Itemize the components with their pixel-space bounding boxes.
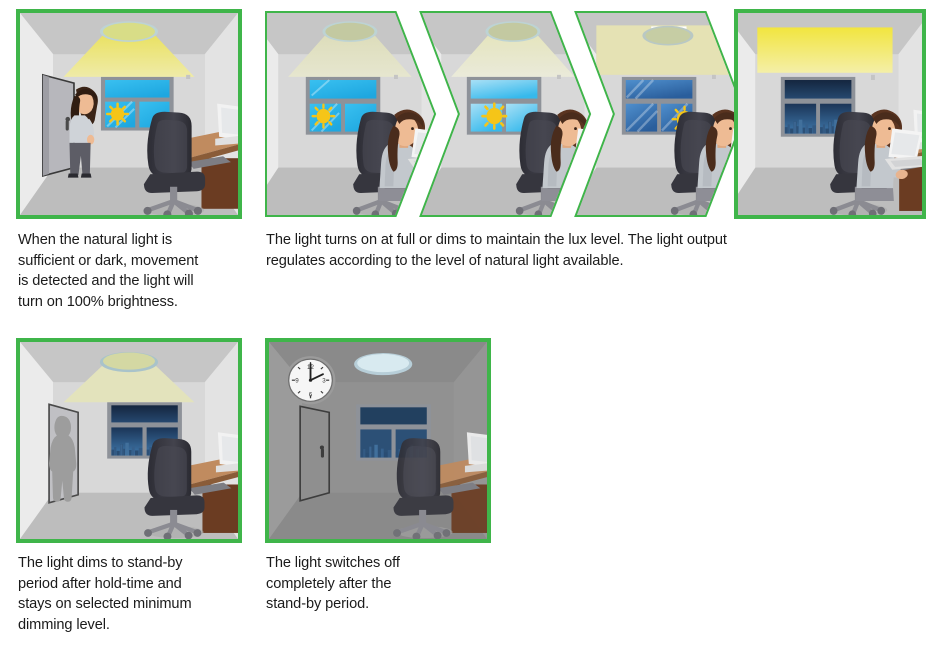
diagram-root: 12 3 6 9: [0, 0, 942, 663]
panel-5-full-light-night: [734, 9, 926, 219]
panel-3-light-regulates-daylight: [418, 9, 593, 219]
panel-7-light-off: 12 3 6 9: [265, 338, 491, 543]
svg-text:3: 3: [322, 378, 326, 385]
svg-text:9: 9: [295, 378, 299, 385]
svg-text:6: 6: [309, 391, 313, 398]
caption-panel-6: The light dims to stand-by period after …: [18, 553, 258, 635]
open-door: [43, 75, 74, 176]
panel-4-light-increases-dusk: [573, 9, 748, 219]
caption-panel-1: When the natural light is sufficient or …: [18, 230, 248, 312]
closed-door: [300, 406, 329, 500]
panel-6-standby-dimming: [16, 338, 242, 543]
wall-clock-icon: 12 3 6 9: [286, 356, 336, 404]
caption-panels-2-5: The light turns on at full or dims to ma…: [266, 230, 906, 271]
panel-1-motion-detected: [16, 9, 242, 219]
panel-2-light-dims-daylight: [263, 9, 438, 219]
caption-panel-7: The light switches off completely after …: [266, 553, 486, 615]
